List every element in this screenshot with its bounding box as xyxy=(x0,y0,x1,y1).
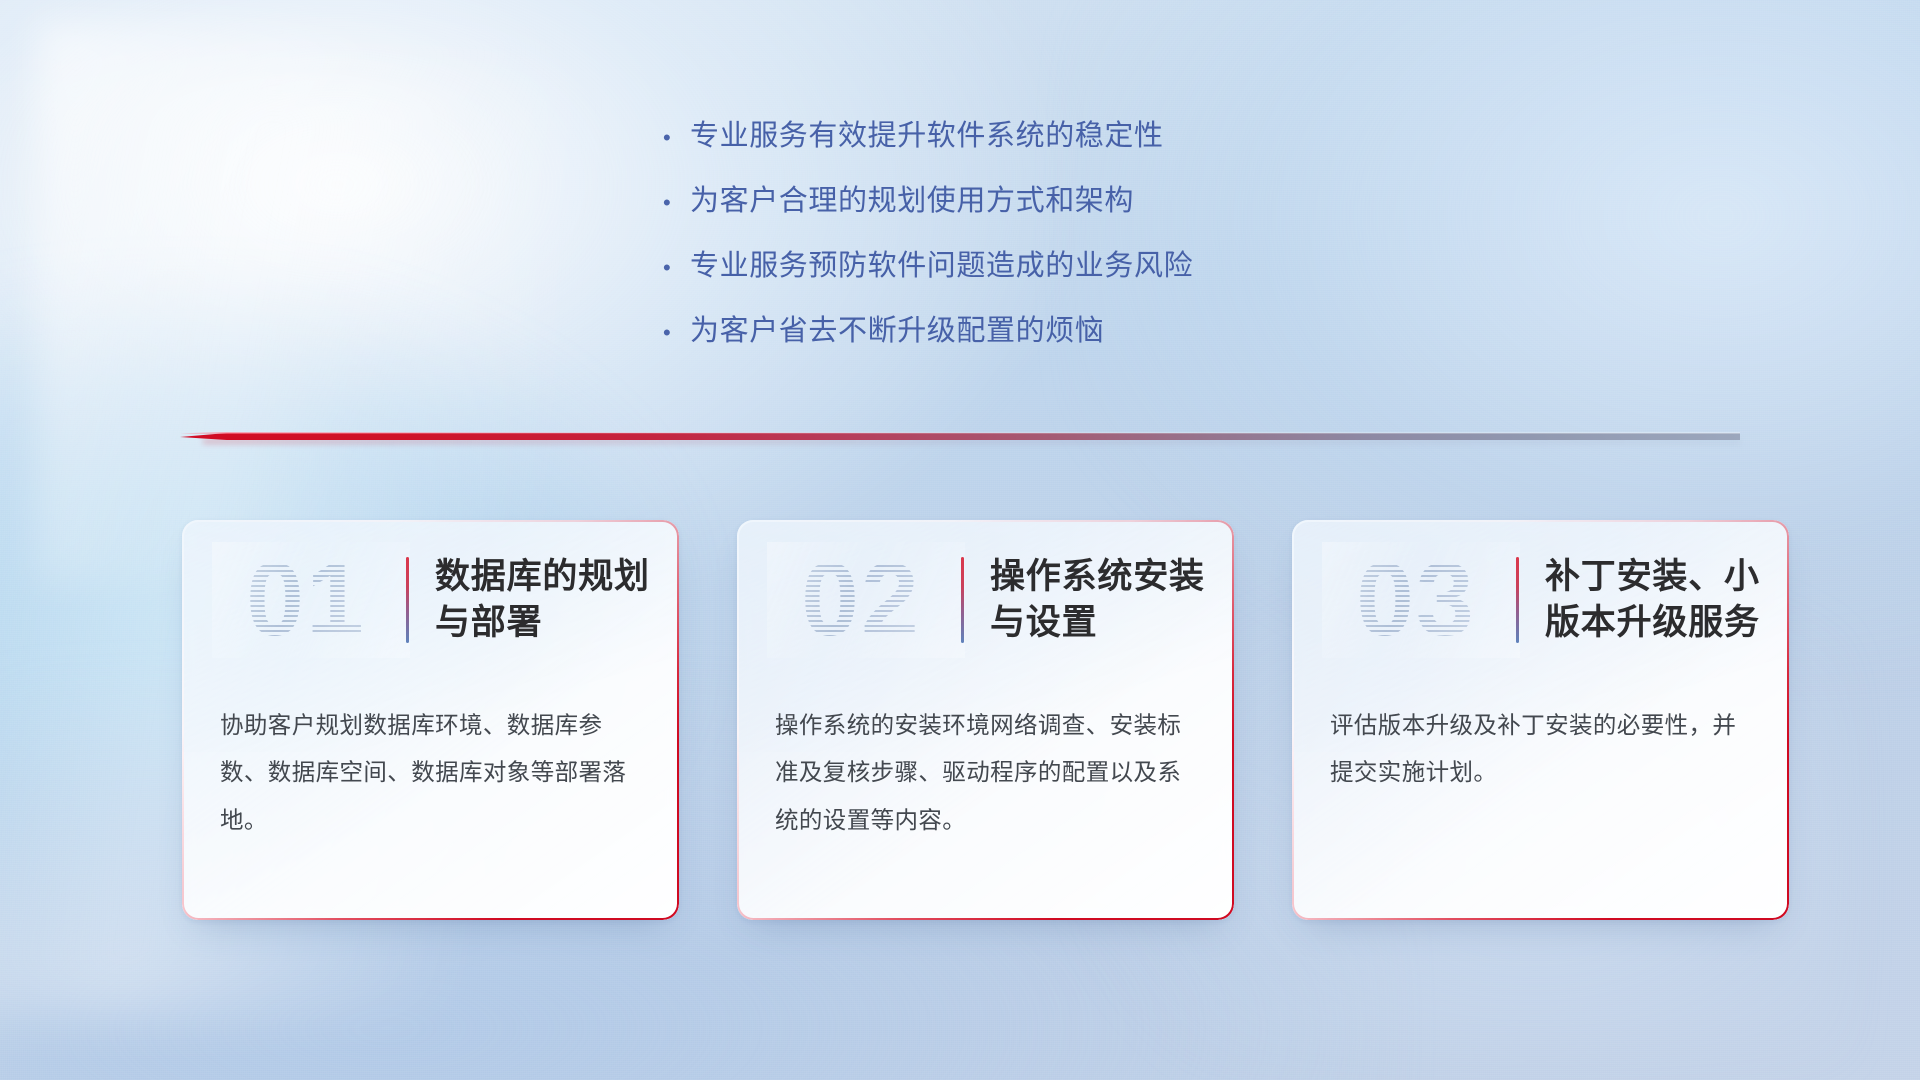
list-item: • 专业服务有效提升软件系统的稳定性 xyxy=(660,112,1560,177)
list-item: • 专业服务预防软件问题造成的业务风险 xyxy=(660,242,1560,307)
bullet-dot-icon: • xyxy=(660,322,690,344)
card-description: 协助客户规划数据库环境、数据库参数、数据库空间、数据库对象等部署落地。 xyxy=(220,702,639,844)
list-item: • 为客户合理的规划使用方式和架构 xyxy=(660,177,1560,242)
card-number-watermark: 02 xyxy=(771,548,961,652)
service-card-02[interactable]: 02 操作系统安装与设置 操作系统的安装环境网络调查、安装标准及复核步骤、驱动程… xyxy=(737,520,1234,920)
card-header: 01 数据库的规划与部署 xyxy=(182,520,679,680)
bullet-text: 为客户合理的规划使用方式和架构 xyxy=(690,177,1134,219)
card-description: 评估版本升级及补丁安装的必要性，并提交实施计划。 xyxy=(1330,702,1749,797)
bullet-text: 为客户省去不断升级配置的烦恼 xyxy=(690,307,1104,349)
card-title: 补丁安装、小版本升级服务 xyxy=(1545,554,1785,646)
bullet-dot-icon: • xyxy=(660,127,690,149)
card-number-watermark: 03 xyxy=(1326,548,1516,652)
divider-highlight xyxy=(180,432,1740,434)
bullet-text: 专业服务有效提升软件系统的稳定性 xyxy=(690,112,1164,154)
divider-bar xyxy=(180,433,1740,440)
service-card-01[interactable]: 01 数据库的规划与部署 协助客户规划数据库环境、数据库参数、数据库空间、数据库… xyxy=(182,520,679,920)
card-accent-rule xyxy=(961,557,964,643)
card-title: 数据库的规划与部署 xyxy=(435,554,675,646)
card-number-watermark: 01 xyxy=(216,548,406,652)
service-card-03[interactable]: 03 补丁安装、小版本升级服务 评估版本升级及补丁安装的必要性，并提交实施计划。 xyxy=(1292,520,1789,920)
service-card-list: 01 数据库的规划与部署 协助客户规划数据库环境、数据库参数、数据库空间、数据库… xyxy=(182,520,1789,920)
card-title: 操作系统安装与设置 xyxy=(990,554,1230,646)
bullet-dot-icon: • xyxy=(660,192,690,214)
card-accent-rule xyxy=(406,557,409,643)
card-description: 操作系统的安装环境网络调查、安装标准及复核步骤、驱动程序的配置以及系统的设置等内… xyxy=(775,702,1194,844)
bullet-dot-icon: • xyxy=(660,257,690,279)
card-header: 03 补丁安装、小版本升级服务 xyxy=(1292,520,1789,680)
benefits-bullet-list: • 专业服务有效提升软件系统的稳定性 • 为客户合理的规划使用方式和架构 • 专… xyxy=(660,112,1560,372)
section-divider xyxy=(180,428,1740,444)
list-item: • 为客户省去不断升级配置的烦恼 xyxy=(660,307,1560,372)
card-accent-rule xyxy=(1516,557,1519,643)
card-header: 02 操作系统安装与设置 xyxy=(737,520,1234,680)
bullet-text: 专业服务预防软件问题造成的业务风险 xyxy=(690,242,1193,284)
